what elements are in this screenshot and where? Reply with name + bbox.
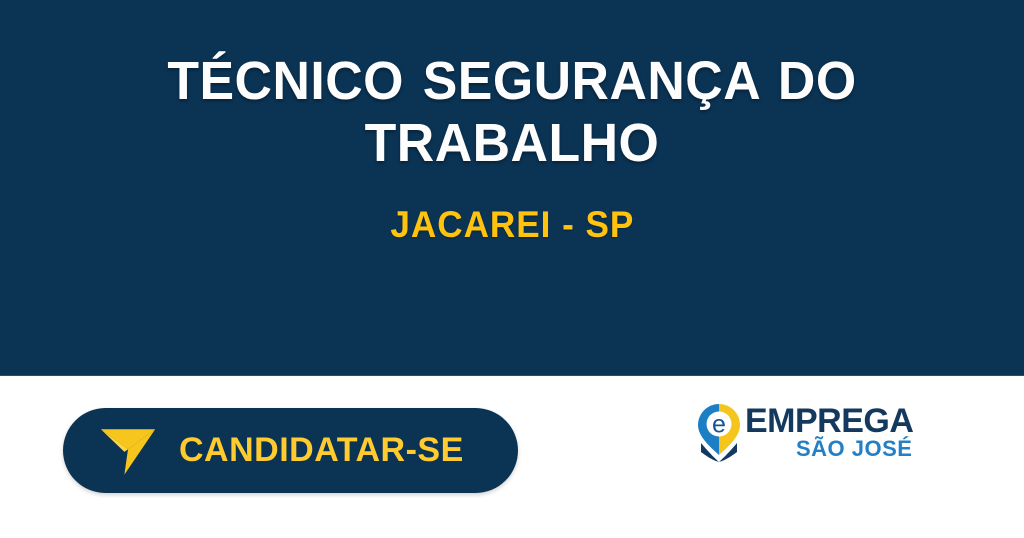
page-title: TÉCNICO SEGURANÇA DO TRABALHO xyxy=(138,50,887,174)
action-bar: CANDIDATAR-SE e xyxy=(0,376,1024,537)
brand-wordmark: EMPREGA SÃO JOSÉ xyxy=(745,401,913,460)
svg-text:e: e xyxy=(712,411,726,439)
hero-banner: TÉCNICO SEGURANÇA DO TRABALHO JACAREI - … xyxy=(0,0,1024,376)
apply-button-label: CANDIDATAR-SE xyxy=(179,431,464,470)
brand-logo[interactable]: e EMPREGA SÃO JOSÉ xyxy=(697,401,913,467)
send-paper-plane-icon xyxy=(99,422,157,480)
location-pin-e-icon: e xyxy=(697,401,741,463)
brand-subtitle: SÃO JOSÉ xyxy=(796,438,912,460)
job-vacancy-card: TÉCNICO SEGURANÇA DO TRABALHO JACAREI - … xyxy=(0,0,1024,538)
apply-button[interactable]: CANDIDATAR-SE xyxy=(63,408,518,493)
job-location: JACAREI - SP xyxy=(390,204,634,246)
brand-name: EMPREGA xyxy=(745,405,913,437)
